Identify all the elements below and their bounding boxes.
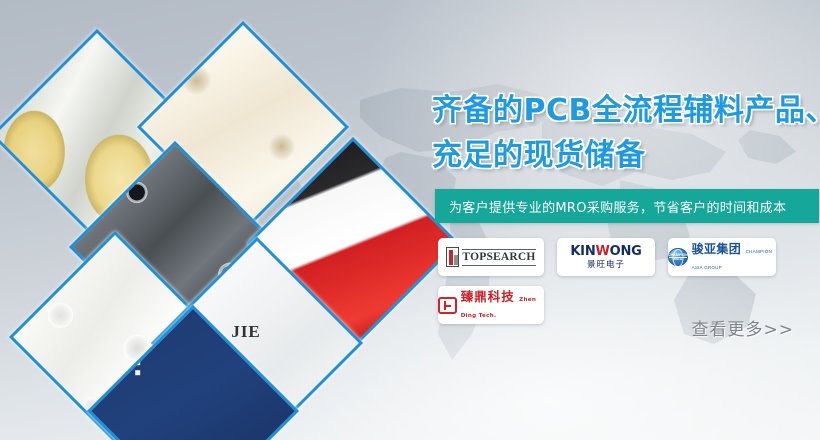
- subtitle-bar: 为客户提供专业的MRO采购服务，节省客户的时间和成本: [435, 189, 819, 223]
- garment-brand-label: JIE: [231, 322, 260, 342]
- view-more-link[interactable]: 查看更多>>: [692, 315, 795, 340]
- zhending-mark-icon: [438, 297, 457, 314]
- kinwong-wordmark: KINWONG: [570, 245, 641, 258]
- logo-champion-asia[interactable]: CHAMPION ASIA 骏亚集团 CHAMPION ASIA GROUP: [668, 238, 776, 276]
- champion-chinese-name: 骏亚集团: [692, 242, 742, 256]
- logo-row-1: TOPSEARCH KINWONG 景旺电子 CHAMPION ASIA 骏亚集…: [438, 238, 820, 276]
- logo-zhen-ding[interactable]: 臻鼎科技 Zhen Ding Tech.: [438, 286, 544, 324]
- kinwong-chinese-name: 景旺电子: [570, 261, 641, 270]
- headline-line-1: 齐备的PCB全流程辅料产品、: [432, 88, 820, 133]
- promo-banner: JIE 齐备的PCB全流程辅料产品、 充足的现货储备 为客户提供专业的MRO采购…: [0, 0, 820, 440]
- globe-icon: CHAMPION ASIA: [668, 248, 688, 266]
- logo-topsearch[interactable]: TOPSEARCH: [438, 238, 544, 276]
- topsearch-wordmark: TOPSEARCH: [462, 249, 535, 266]
- banner-content: 齐备的PCB全流程辅料产品、 充足的现货储备 为客户提供专业的MRO采购服务，节…: [430, 0, 820, 440]
- headline: 齐备的PCB全流程辅料产品、 充足的现货储备: [432, 88, 820, 178]
- subtitle-text: 为客户提供专业的MRO采购服务，节省客户的时间和成本: [435, 197, 786, 216]
- zhending-chinese-name: 臻鼎科技: [461, 290, 515, 304]
- product-image-collage: JIE: [0, 0, 420, 440]
- topsearch-mark-icon: [446, 247, 459, 267]
- headline-line-2: 充足的现货储备: [432, 133, 820, 178]
- globe-icon-text: CHAMPION ASIA: [668, 253, 688, 261]
- logo-kinwong[interactable]: KINWONG 景旺电子: [557, 238, 655, 276]
